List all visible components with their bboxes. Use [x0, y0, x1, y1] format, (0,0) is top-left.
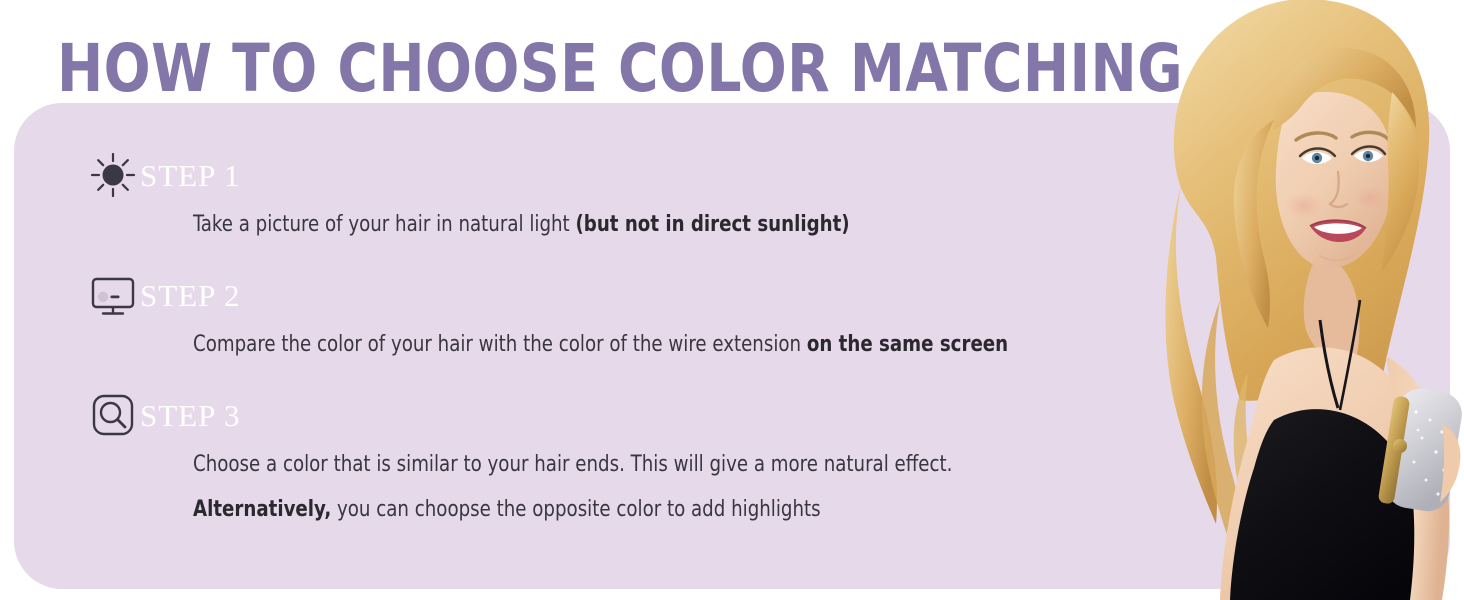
step-3-line-1: Choose a color that is similar to your h…: [193, 448, 981, 482]
step-1-body: Take a picture of your hair in natural l…: [0, 202, 1050, 242]
step-3-label: STEP 3: [140, 400, 240, 431]
step-item-2: STEP 2 Compare the color of your hair wi…: [0, 268, 1050, 362]
step-2-text-bold: on the same screen: [807, 332, 1008, 357]
step-2-body: Compare the color of your hair with the …: [0, 322, 1050, 362]
step-1-label: STEP 1: [140, 160, 240, 191]
step-3-text-bold-lead: Alternatively,: [193, 497, 331, 522]
step-3-line-2: Alternatively, you can choopse the oppos…: [193, 493, 981, 527]
step-3-header: STEP 3: [0, 388, 1050, 442]
step-2-label: STEP 2: [140, 280, 240, 311]
step-2-header: STEP 2: [0, 268, 1050, 322]
step-2-text-normal: Compare the color of your hair with the …: [193, 332, 807, 357]
step-item-3: STEP 3 Choose a color that is similar to…: [0, 388, 1050, 527]
step-1-text-normal: Take a picture of your hair in natural l…: [193, 212, 575, 237]
sun-icon: [88, 150, 138, 200]
infographic-banner: HOW TO CHOOSE COLOR MATCHING: [0, 0, 1464, 600]
step-1-line-1: Take a picture of your hair in natural l…: [193, 208, 981, 242]
monitor-icon: [88, 270, 138, 320]
search-icon: [88, 390, 138, 440]
step-1-text-bold: (but not in direct sunlight): [575, 212, 849, 237]
page-title: HOW TO CHOOSE COLOR MATCHING: [57, 36, 1183, 102]
step-2-line-1: Compare the color of your hair with the …: [193, 328, 981, 362]
step-1-header: STEP 1: [0, 148, 1050, 202]
step-item-1: STEP 1 Take a picture of your hair in na…: [0, 148, 1050, 242]
step-3-text-normal: Choose a color that is similar to your h…: [193, 452, 952, 477]
step-3-body: Choose a color that is similar to your h…: [0, 442, 1050, 527]
step-3-text-normal-2: you can choopse the opposite color to ad…: [331, 497, 820, 522]
